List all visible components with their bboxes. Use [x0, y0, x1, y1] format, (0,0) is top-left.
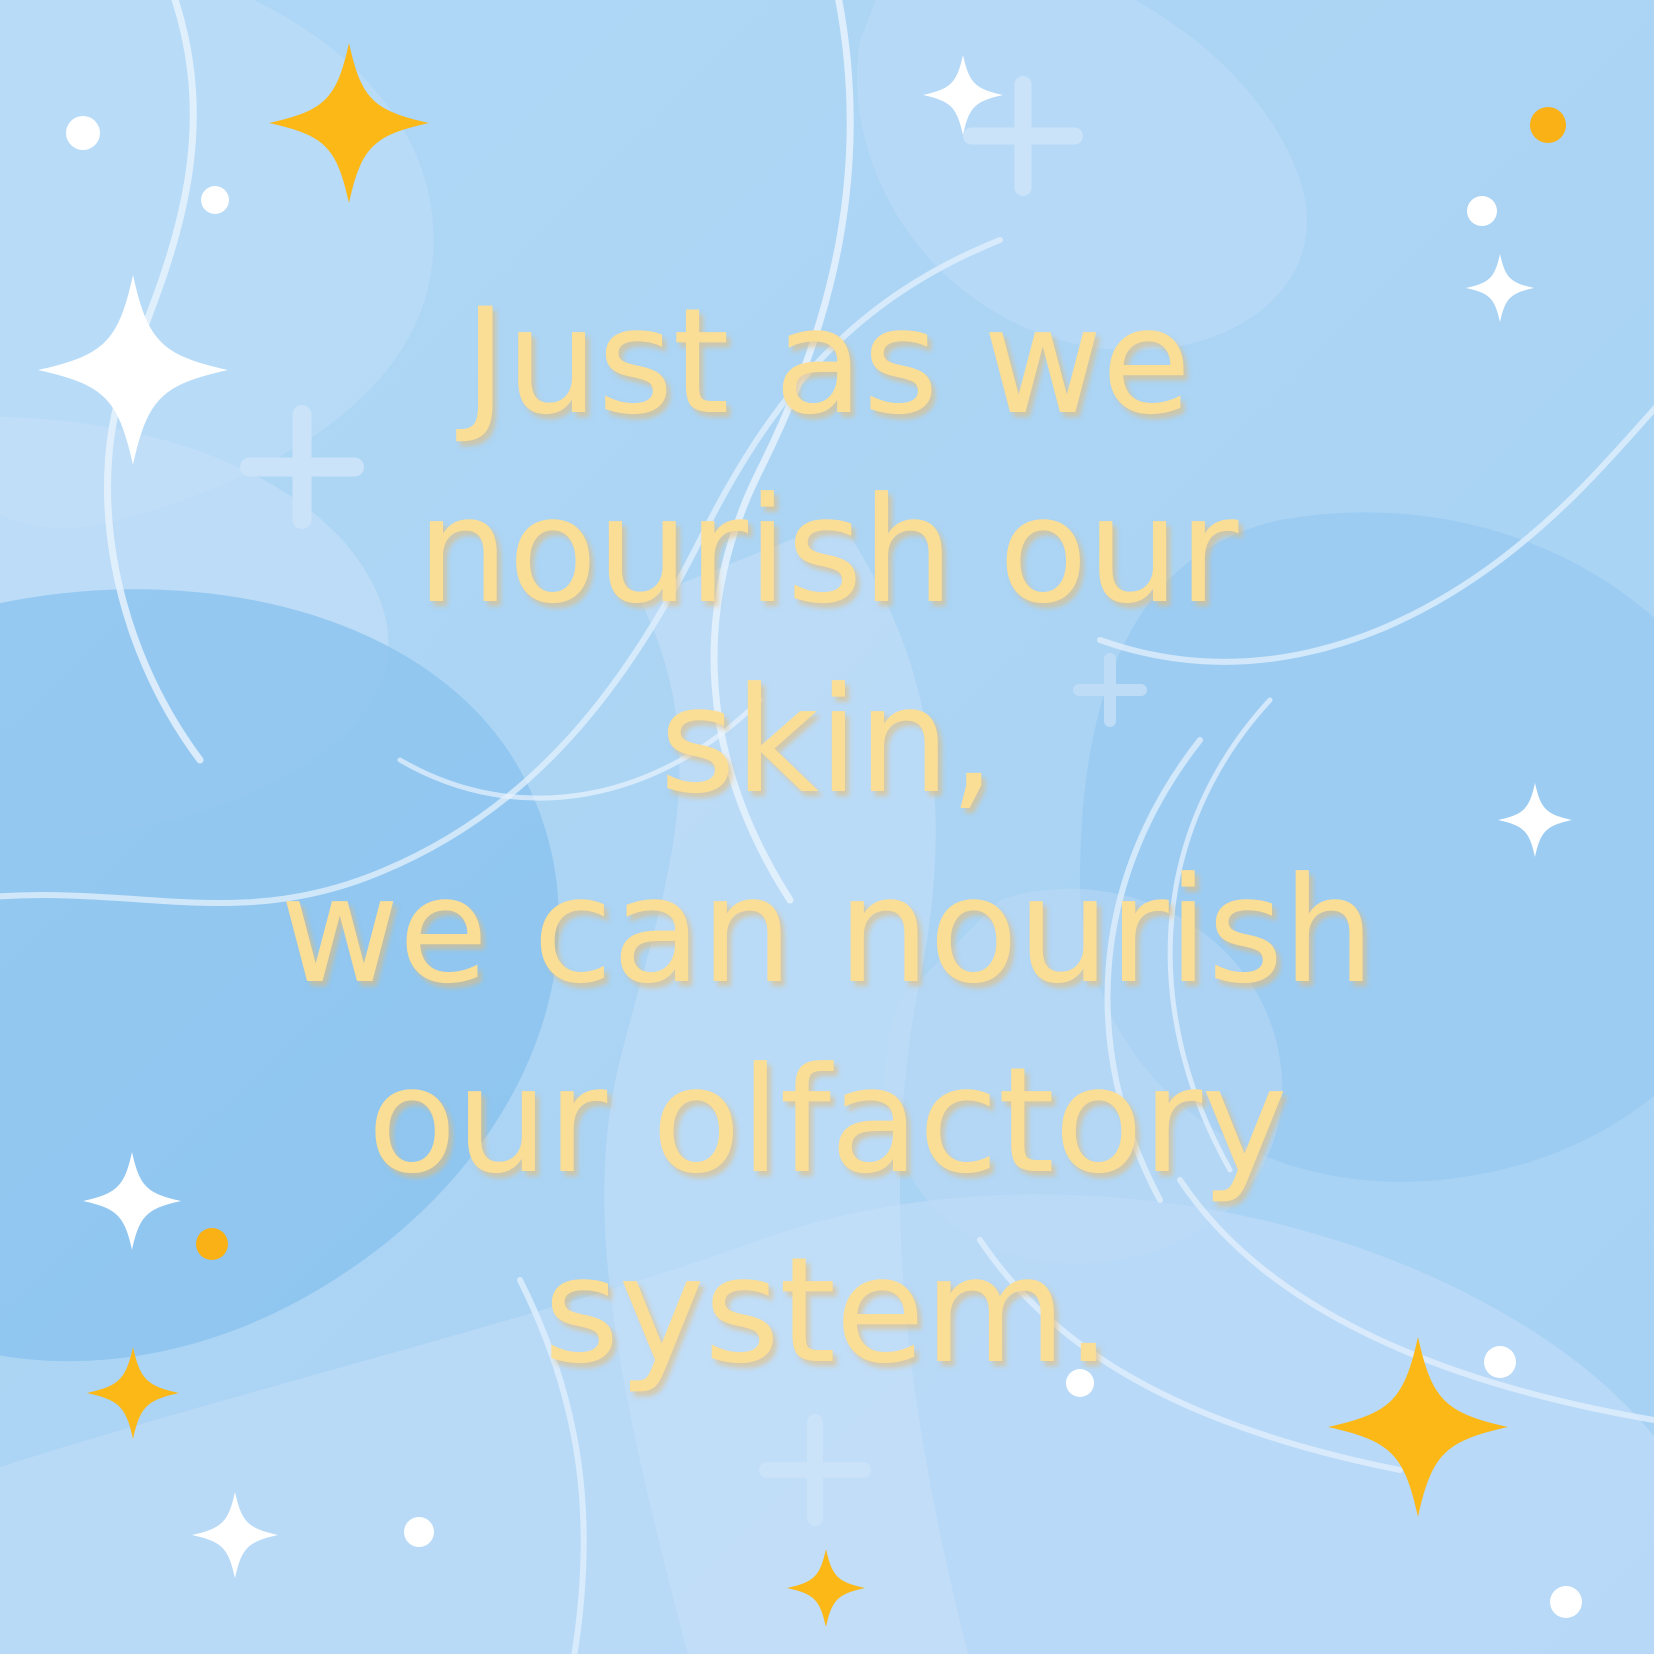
- quote-text: Just as we nourish our skin, we can nour…: [237, 268, 1417, 1407]
- poster-canvas: Just as we nourish our skin, we can nour…: [0, 0, 1654, 1654]
- quote-container: Just as we nourish our skin, we can nour…: [0, 0, 1654, 1654]
